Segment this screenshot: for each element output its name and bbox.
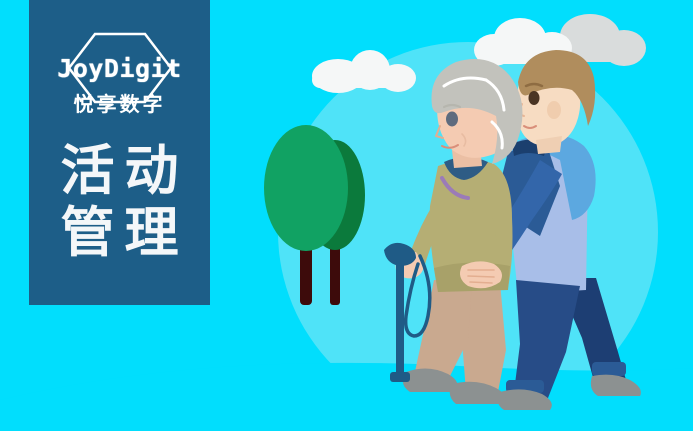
man-eye bbox=[529, 91, 540, 105]
cane-tip bbox=[390, 372, 410, 382]
page-title-line-1: 活动 bbox=[29, 140, 210, 202]
brand-logo: JoyDigit 悦享数字 bbox=[29, 30, 210, 125]
cane-shaft bbox=[396, 258, 404, 380]
logo-wordmark: JoyDigit bbox=[29, 54, 210, 83]
man-ear bbox=[547, 101, 561, 119]
poster-canvas: JoyDigit 悦享数字 活动 管理 bbox=[0, 0, 693, 431]
page-title: 活动 管理 bbox=[29, 140, 210, 264]
page-title-line-2: 管理 bbox=[29, 202, 210, 264]
man-far-cuff bbox=[592, 362, 626, 376]
logo-chinese-name: 悦享数字 bbox=[29, 88, 210, 117]
woman-eye bbox=[446, 112, 458, 127]
woman-back-hand bbox=[460, 261, 502, 288]
title-panel: JoyDigit 悦享数字 活动 管理 bbox=[29, 0, 210, 305]
